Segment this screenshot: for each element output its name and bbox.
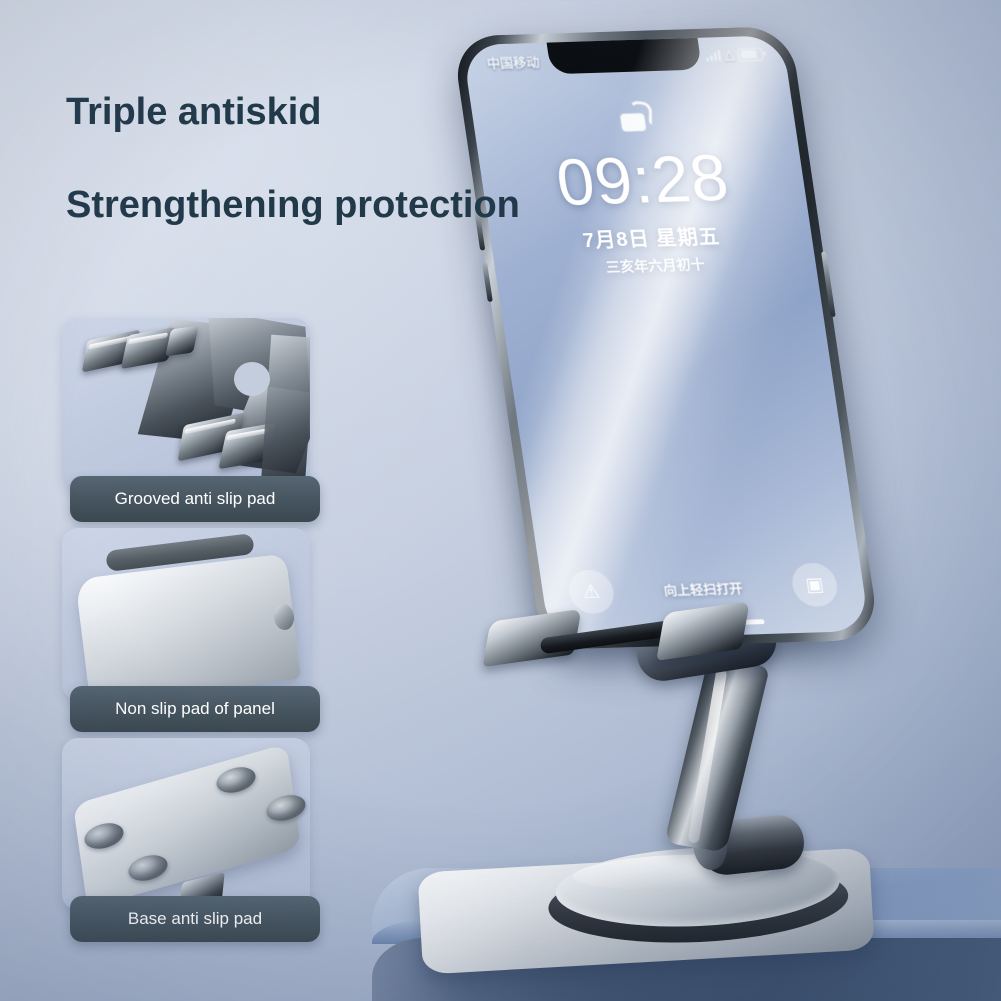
product-poster: 中国移动 △ 09:28 7月8日 星期五 三亥年六月初十 ⚠ 向上轻扫打开 (0, 0, 1001, 1001)
background-vignette (0, 0, 1001, 1001)
